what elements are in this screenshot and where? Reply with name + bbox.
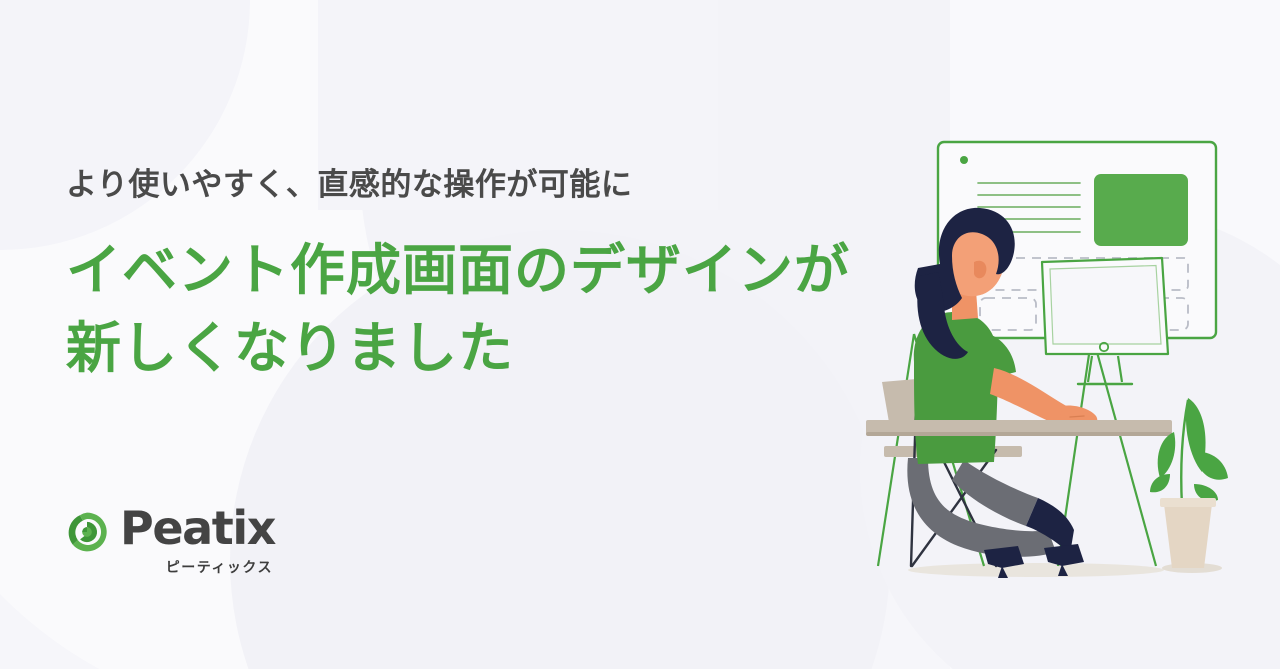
logo-reading: ピーティックス — [166, 557, 273, 577]
status-dot-icon — [960, 156, 968, 164]
desktop-monitor — [1042, 258, 1168, 384]
copy-block: より使いやすく、直感的な操作が可能に イベント作成画面のデザインが 新しくなりま… — [66, 166, 896, 387]
headline-line-2: 新しくなりました — [66, 309, 896, 387]
page-title: イベント作成画面のデザインが 新しくなりました — [66, 231, 896, 387]
heel-shoe-front — [1044, 544, 1084, 566]
logo-text-wrap: Peatix ピーティックス — [120, 505, 275, 577]
image-placeholder-block — [1094, 174, 1188, 246]
peatix-p-mark-icon — [66, 511, 108, 553]
desk-top — [866, 420, 1172, 434]
banner-canvas: より使いやすく、直感的な操作が可能に イベント作成画面のデザインが 新しくなりま… — [0, 0, 1280, 669]
floor-shadow — [908, 563, 1164, 577]
hero-illustration — [856, 106, 1276, 606]
logo-wordmark: Peatix — [120, 505, 275, 551]
plant-leaves — [1150, 398, 1228, 501]
peatix-logo: Peatix ピーティックス — [66, 505, 275, 577]
headline-line-1: イベント作成画面のデザインが — [66, 231, 896, 309]
arm — [990, 368, 1070, 428]
eyebrow-text: より使いやすく、直感的な操作が可能に — [66, 166, 896, 203]
plant-pot — [1164, 504, 1212, 568]
